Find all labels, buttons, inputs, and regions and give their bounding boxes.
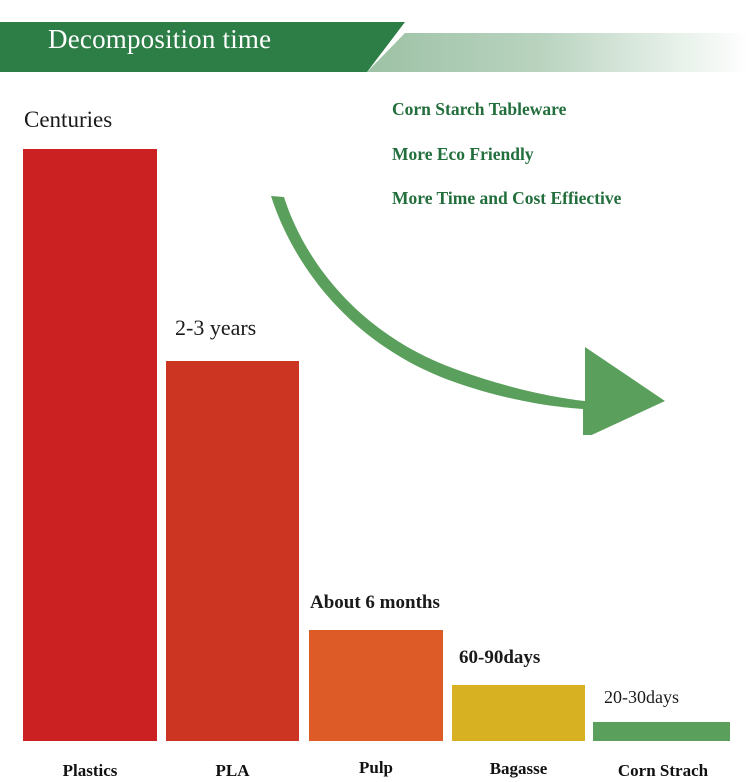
callout-list: Corn Starch Tableware More Eco Friendly … bbox=[392, 101, 742, 235]
bar-value-label-corn-strach: 20-30days bbox=[604, 688, 679, 706]
callout-item-3: More Time and Cost Effiective bbox=[392, 190, 742, 208]
bar-value-label-pla: 2-3 years bbox=[175, 317, 256, 339]
bar-pulp bbox=[309, 630, 443, 741]
bar-category-label-plastics: Plastics bbox=[23, 762, 157, 779]
bar-category-label-corn-strach: Corn Strach bbox=[588, 762, 738, 779]
bar-category-label-pla: PLA bbox=[166, 762, 299, 779]
bar-corn-strach bbox=[593, 722, 730, 741]
bar-plastics bbox=[23, 149, 157, 741]
bar-value-label-bagasse: 60-90days bbox=[459, 648, 540, 667]
bar-category-label-bagasse: Bagasse bbox=[452, 760, 585, 777]
callout-item-1: Corn Starch Tableware bbox=[392, 101, 742, 119]
callout-item-2: More Eco Friendly bbox=[392, 146, 742, 164]
bar-value-label-pulp: About 6 months bbox=[310, 593, 440, 612]
bar-pla bbox=[166, 361, 299, 741]
bar-bagasse bbox=[452, 685, 585, 741]
infographic-canvas: Decomposition time Centuries Plastics 2-… bbox=[0, 0, 750, 782]
bar-value-label-plastics: Centuries bbox=[24, 108, 112, 131]
bar-category-label-pulp: Pulp bbox=[309, 759, 443, 776]
